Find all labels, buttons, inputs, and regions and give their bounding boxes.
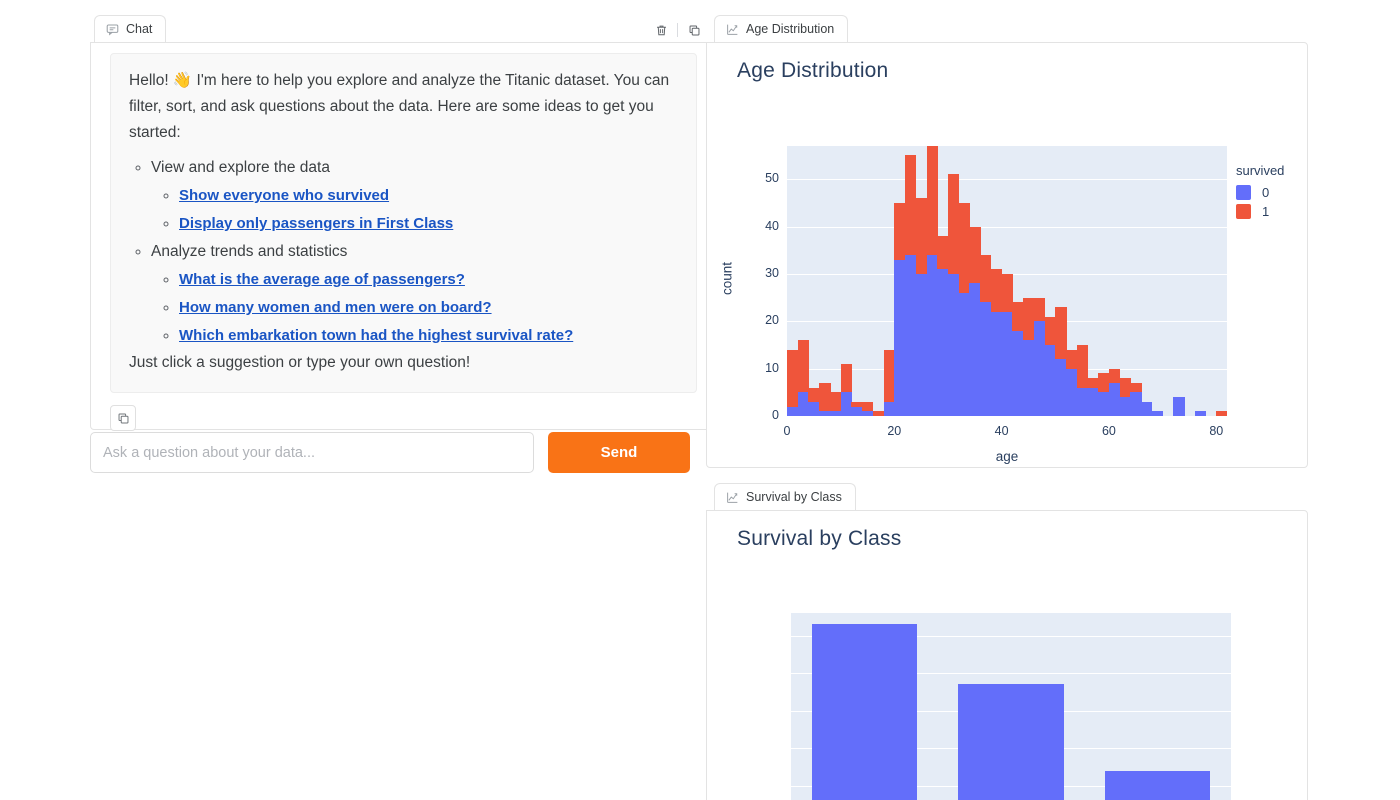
y-axis-tick: 20 (745, 313, 779, 327)
toolbar-divider (677, 23, 678, 37)
x-axis-tick: 60 (1089, 424, 1129, 438)
age-histogram[interactable]: 01020304050020406080agecount (787, 146, 1227, 416)
survival-by-class-panel: Survival by Class 0.20.30.40.50.6survive… (706, 510, 1308, 800)
age-distribution-region: Age Distribution Age Distribution 010203… (706, 14, 1308, 468)
bin-segment-not-survived (1109, 383, 1120, 416)
bin-segment-not-survived (916, 274, 927, 416)
class-tabbar: Survival by Class (706, 482, 1308, 510)
bin-segment-survived (1087, 378, 1098, 387)
histogram-bin (905, 155, 916, 416)
bin-segment-not-survived (1055, 359, 1066, 416)
bin-segment-survived (1130, 383, 1141, 392)
histogram-bin (1066, 350, 1077, 416)
histogram-bin (980, 255, 991, 416)
histogram-bin (830, 392, 841, 416)
histogram-bin (873, 411, 884, 416)
y-axis-tick: 0 (745, 408, 779, 422)
suggestion-group: View and explore the data Show everyone … (151, 154, 678, 238)
bin-segment-not-survived (959, 293, 970, 416)
y-axis-tick: 30 (745, 266, 779, 280)
send-button[interactable]: Send (548, 432, 690, 473)
bin-segment-not-survived (1130, 392, 1141, 416)
histogram-bin (927, 146, 938, 416)
copy-icon (117, 412, 130, 425)
bin-segment-not-survived (851, 407, 862, 416)
suggestion-link-women-men[interactable]: How many women and men were on board? (179, 299, 492, 316)
suggestion-link-first-class[interactable]: Display only passengers in First Class (179, 215, 453, 232)
bin-segment-survived (1045, 317, 1056, 345)
copy-icon (688, 24, 701, 37)
histogram-bin (1098, 373, 1109, 416)
bin-segment-survived (1023, 298, 1034, 341)
bin-segment-not-survived (980, 302, 991, 416)
bin-segment-not-survived (969, 283, 980, 416)
bin-segment-not-survived (787, 407, 798, 416)
bin-segment-survived (1055, 307, 1066, 359)
histogram-bin (959, 203, 970, 416)
histogram-bin (969, 227, 980, 416)
bar-class-2 (958, 684, 1064, 800)
bin-segment-not-survived (1077, 388, 1088, 416)
bin-segment-not-survived (808, 402, 819, 416)
bin-segment-not-survived (1023, 340, 1034, 416)
bin-segment-not-survived (1152, 411, 1163, 416)
y-axis-tick: 40 (745, 219, 779, 233)
bin-segment-survived (1066, 350, 1077, 369)
histogram-bin (841, 364, 852, 416)
chat-region: Chat (90, 14, 710, 430)
bar-class-3 (1105, 771, 1211, 800)
legend-title: survived (1236, 163, 1284, 178)
bin-segment-survived (980, 255, 991, 302)
survival-by-class-region: Survival by Class Survival by Class 0.20… (706, 482, 1308, 800)
bin-segment-not-survived (1098, 392, 1109, 416)
age-chart-title: Age Distribution (737, 59, 888, 83)
legend-label: 1 (1262, 204, 1269, 219)
bin-segment-survived (1002, 274, 1013, 312)
bin-segment-not-survived (1002, 312, 1013, 416)
group-heading: Analyze trends and statistics (151, 243, 347, 260)
bin-segment-not-survived (894, 260, 905, 416)
question-input[interactable] (90, 432, 534, 473)
age-distribution-panel: Age Distribution 01020304050020406080age… (706, 42, 1308, 468)
x-axis-tick: 0 (767, 424, 807, 438)
bin-segment-survived (1109, 369, 1120, 383)
suggestion-link-average-age[interactable]: What is the average age of passengers? (179, 271, 465, 288)
bin-segment-not-survived (1087, 388, 1098, 416)
bin-segment-survived (916, 198, 927, 274)
histogram-bin (1012, 302, 1023, 416)
list-item: What is the average age of passengers? (179, 266, 678, 294)
suggestion-groups: View and explore the data Show everyone … (129, 154, 678, 350)
bin-segment-not-survived (991, 312, 1002, 416)
chat-bubble-icon (106, 23, 119, 36)
bin-segment-survived (1012, 302, 1023, 330)
message-closing: Just click a suggestion or type your own… (129, 350, 678, 376)
histogram-bin (948, 174, 959, 416)
suggestion-group: Analyze trends and statistics What is th… (151, 238, 678, 350)
bin-segment-not-survived (937, 269, 948, 416)
bin-segment-not-survived (1034, 321, 1045, 416)
legend-item-1[interactable]: 1 (1236, 204, 1284, 219)
suggestion-link-show-survived[interactable]: Show everyone who survived (179, 187, 389, 204)
bin-segment-survived (894, 203, 905, 260)
histogram-bin (1023, 298, 1034, 416)
histogram-bin (862, 402, 873, 416)
bin-segment-survived (948, 174, 959, 273)
tab-survival-by-class[interactable]: Survival by Class (714, 483, 856, 510)
histogram-bin (787, 350, 798, 416)
histogram-bin (851, 402, 862, 416)
bin-segment-survived (1077, 345, 1088, 388)
bin-segment-survived (862, 402, 873, 411)
histogram-bin (916, 198, 927, 416)
bin-segment-survived (873, 411, 884, 416)
bin-segment-survived (830, 392, 841, 411)
chart-line-icon (726, 491, 739, 504)
class-chart-title: Survival by Class (737, 527, 901, 551)
bin-segment-survived (841, 364, 852, 392)
list-item: Display only passengers in First Class (179, 210, 678, 238)
bin-segment-survived (937, 236, 948, 269)
bin-segment-survived (959, 203, 970, 293)
histogram-bin (1077, 345, 1088, 416)
bin-segment-not-survived (927, 255, 938, 416)
histogram-bin (1034, 298, 1045, 416)
histogram-bin (894, 203, 905, 416)
histogram-bin (884, 350, 895, 416)
bin-segment-survived (927, 146, 938, 255)
histogram-bin (937, 236, 948, 416)
bin-segment-survived (1216, 411, 1227, 416)
age-tabbar: Age Distribution (706, 14, 1308, 42)
histogram-bin (1152, 411, 1163, 416)
bin-segment-not-survived (841, 392, 852, 416)
suggestion-link-embarkation[interactable]: Which embarkation town had the highest s… (179, 327, 573, 344)
bin-segment-not-survived (948, 274, 959, 416)
bin-segment-not-survived (1141, 402, 1152, 416)
chat-tabbar: Chat (90, 14, 710, 42)
histogram-bin (1087, 378, 1098, 416)
bin-segment-not-survived (1120, 397, 1131, 416)
histogram-bin (1130, 383, 1141, 416)
bin-segment-not-survived (1173, 397, 1184, 416)
x-axis-tick: 80 (1196, 424, 1236, 438)
bin-segment-survived (1098, 373, 1109, 392)
bin-segment-survived (819, 383, 830, 411)
histogram-bin (1109, 369, 1120, 416)
survival-bar-chart[interactable]: 0.20.30.40.50.6survived (791, 613, 1231, 800)
histogram-bin (1045, 317, 1056, 416)
histogram-bin (1002, 274, 1013, 416)
histogram-bin (991, 269, 1002, 416)
bin-segment-not-survived (798, 392, 809, 416)
y-axis-tick: 50 (745, 171, 779, 185)
list-item: How many women and men were on board? (179, 294, 678, 322)
copy-chat-button[interactable] (684, 20, 704, 40)
histogram-bin (1120, 378, 1131, 416)
bin-segment-not-survived (1012, 331, 1023, 416)
clear-chat-button[interactable] (651, 20, 671, 40)
age-legend: survived01 (1236, 163, 1284, 223)
bin-segment-survived (991, 269, 1002, 312)
histogram-bin (808, 388, 819, 416)
legend-swatch (1236, 185, 1251, 200)
bin-segment-not-survived (862, 411, 873, 416)
copy-message-button[interactable] (110, 405, 136, 431)
chart-line-icon (726, 23, 739, 36)
bin-segment-not-survived (1066, 369, 1077, 416)
list-item: Show everyone who survived (179, 182, 678, 210)
bin-segment-survived (884, 350, 895, 402)
histogram-bin (1195, 411, 1206, 416)
tab-age-label: Age Distribution (746, 22, 834, 36)
tab-class-label: Survival by Class (746, 490, 842, 504)
chat-panel: Hello! 👋 I'm here to help you explore an… (90, 42, 710, 430)
histogram-bin (798, 340, 809, 416)
y-axis-title: count (720, 239, 735, 319)
histogram-bin (1141, 402, 1152, 416)
bin-segment-not-survived (830, 411, 841, 416)
bin-segment-not-survived (905, 255, 916, 416)
bin-segment-not-survived (819, 411, 830, 416)
histogram-bin (1055, 307, 1066, 416)
bin-segment-survived (798, 340, 809, 392)
histogram-bin (1216, 411, 1227, 416)
message-greeting: Hello! 👋 I'm here to help you explore an… (129, 68, 678, 146)
bin-segment-not-survived (884, 402, 895, 416)
bin-segment-survived (787, 350, 798, 407)
legend-label: 0 (1262, 185, 1269, 200)
tab-chat-label: Chat (126, 22, 152, 36)
bin-segment-not-survived (1195, 411, 1206, 416)
bin-segment-not-survived (1045, 345, 1056, 416)
chat-composer: Send (90, 432, 710, 473)
histogram-bars (787, 146, 1227, 416)
assistant-message: Hello! 👋 I'm here to help you explore an… (110, 53, 697, 393)
chat-toolbar (651, 20, 704, 40)
bin-segment-survived (905, 155, 916, 254)
x-axis-title: age (787, 449, 1227, 464)
y-axis-tick: 10 (745, 361, 779, 375)
bin-segment-survived (1120, 378, 1131, 397)
bin-segment-survived (1034, 298, 1045, 322)
group-heading: View and explore the data (151, 159, 330, 176)
tab-chat[interactable]: Chat (94, 15, 166, 42)
bar-class-1 (812, 624, 918, 800)
bin-segment-survived (851, 402, 862, 407)
trash-icon (655, 24, 668, 37)
legend-item-0[interactable]: 0 (1236, 185, 1284, 200)
histogram-bin (819, 383, 830, 416)
bin-segment-survived (808, 388, 819, 402)
legend-swatch (1236, 204, 1251, 219)
tab-age-distribution[interactable]: Age Distribution (714, 15, 848, 42)
x-axis-tick: 40 (982, 424, 1022, 438)
x-axis-tick: 20 (874, 424, 914, 438)
histogram-bin (1173, 397, 1184, 416)
list-item: Which embarkation town had the highest s… (179, 322, 678, 350)
bin-segment-survived (969, 227, 980, 284)
